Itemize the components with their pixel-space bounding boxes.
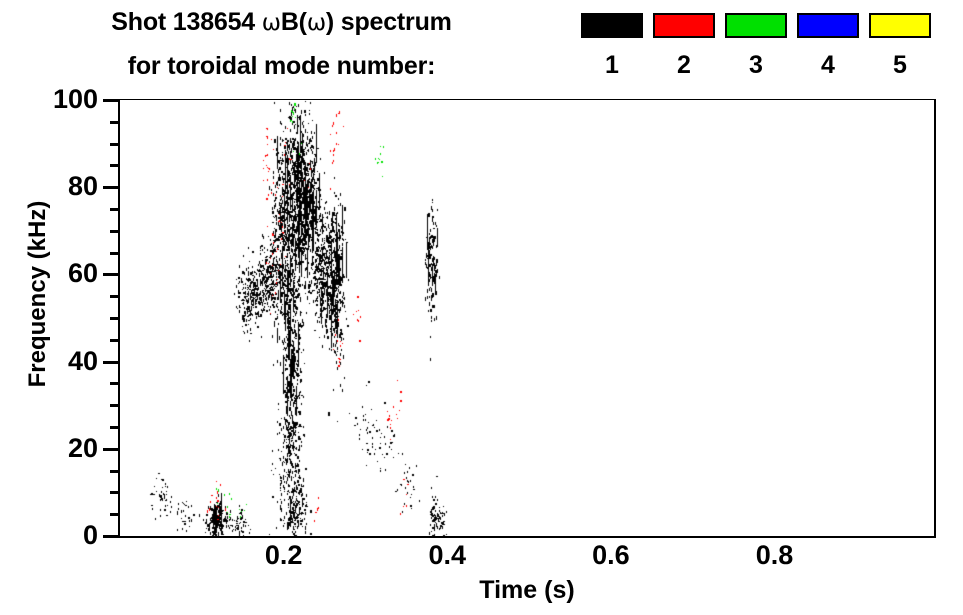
y-axis-tick-label-0: 0 bbox=[0, 522, 98, 549]
y-axis-tick-major-40 bbox=[103, 361, 121, 364]
spectrogram-plot-area bbox=[120, 100, 934, 536]
spectrum-figure: Shot 138654 ωB(ω) spectrum for toroidal … bbox=[0, 0, 963, 615]
x-axis-label: Time (s) bbox=[118, 578, 936, 603]
mode-number-legend: 12345 bbox=[575, 0, 963, 92]
legend-swatch-mode-1 bbox=[581, 13, 643, 38]
legend-item-mode-1[interactable]: 1 bbox=[581, 0, 647, 92]
y-axis-tick-major-60 bbox=[103, 273, 121, 276]
y-axis-tick-major-80 bbox=[103, 186, 121, 189]
y-axis-label: Frequency (kHz) bbox=[26, 84, 50, 504]
title-suffix: ) spectrum bbox=[326, 8, 452, 36]
legend-label-mode-2: 2 bbox=[653, 52, 715, 79]
legend-item-mode-2[interactable]: 2 bbox=[653, 0, 719, 92]
legend-swatch-mode-4 bbox=[797, 13, 859, 38]
omega-symbol-2: ω bbox=[307, 10, 326, 36]
legend-label-mode-3: 3 bbox=[725, 52, 787, 79]
legend-label-mode-1: 1 bbox=[581, 52, 643, 79]
spectrogram-canvas bbox=[120, 100, 934, 536]
legend-label-mode-5: 5 bbox=[869, 52, 931, 79]
legend-label-mode-4: 4 bbox=[797, 52, 859, 79]
figure-title-line-2: for toroidal mode number: bbox=[0, 54, 563, 79]
legend-item-mode-3[interactable]: 3 bbox=[725, 0, 791, 92]
x-axis-tick-label-0.8: 0.8 bbox=[714, 542, 834, 569]
x-axis-tick-label-0.2: 0.2 bbox=[224, 542, 344, 569]
legend-item-mode-5[interactable]: 5 bbox=[869, 0, 935, 92]
x-axis-tick-label-0.4: 0.4 bbox=[387, 542, 507, 569]
legend-swatch-mode-3 bbox=[725, 13, 787, 38]
title-mid: B( bbox=[281, 8, 307, 36]
legend-item-mode-4[interactable]: 4 bbox=[797, 0, 863, 92]
figure-title-block: Shot 138654 ωB(ω) spectrum for toroidal … bbox=[0, 0, 575, 92]
title-prefix: Shot 138654 bbox=[111, 8, 261, 36]
x-axis-tick-label-0.6: 0.6 bbox=[551, 542, 671, 569]
y-axis-tick-major-20 bbox=[103, 448, 121, 451]
figure-title-line-1: Shot 138654 ωB(ω) spectrum bbox=[0, 10, 563, 36]
omega-symbol-1: ω bbox=[262, 10, 281, 36]
legend-swatch-mode-5 bbox=[869, 13, 931, 38]
legend-swatch-mode-2 bbox=[653, 13, 715, 38]
